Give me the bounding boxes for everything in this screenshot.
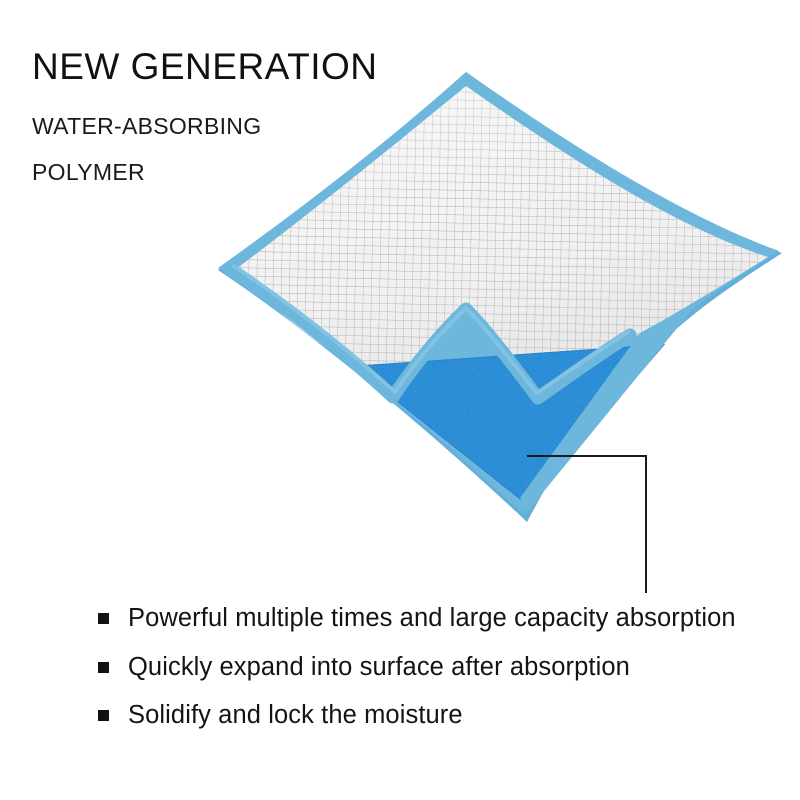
subtitle-line-2: POLYMER [32, 159, 378, 186]
feature-text: Powerful multiple times and large capaci… [128, 602, 736, 636]
feature-list: Powerful multiple times and large capaci… [98, 602, 736, 733]
page-title: NEW GENERATION [32, 48, 378, 87]
list-item: Quickly expand into surface after absorp… [98, 651, 736, 685]
callout-line-vertical [645, 455, 647, 593]
feature-text: Quickly expand into surface after absorp… [128, 651, 630, 685]
subtitle-line-1: WATER-ABSORBING [32, 113, 378, 140]
callout-line-horizontal [527, 455, 647, 457]
product-infographic: NEW GENERATION WATER-ABSORBING POLYMER P… [0, 0, 800, 800]
heading-block: NEW GENERATION WATER-ABSORBING POLYMER [32, 48, 378, 186]
square-bullet-icon [98, 710, 109, 721]
square-bullet-icon [98, 662, 109, 673]
list-item: Powerful multiple times and large capaci… [98, 602, 736, 636]
feature-text: Solidify and lock the moisture [128, 699, 463, 733]
list-item: Solidify and lock the moisture [98, 699, 736, 733]
square-bullet-icon [98, 613, 109, 624]
